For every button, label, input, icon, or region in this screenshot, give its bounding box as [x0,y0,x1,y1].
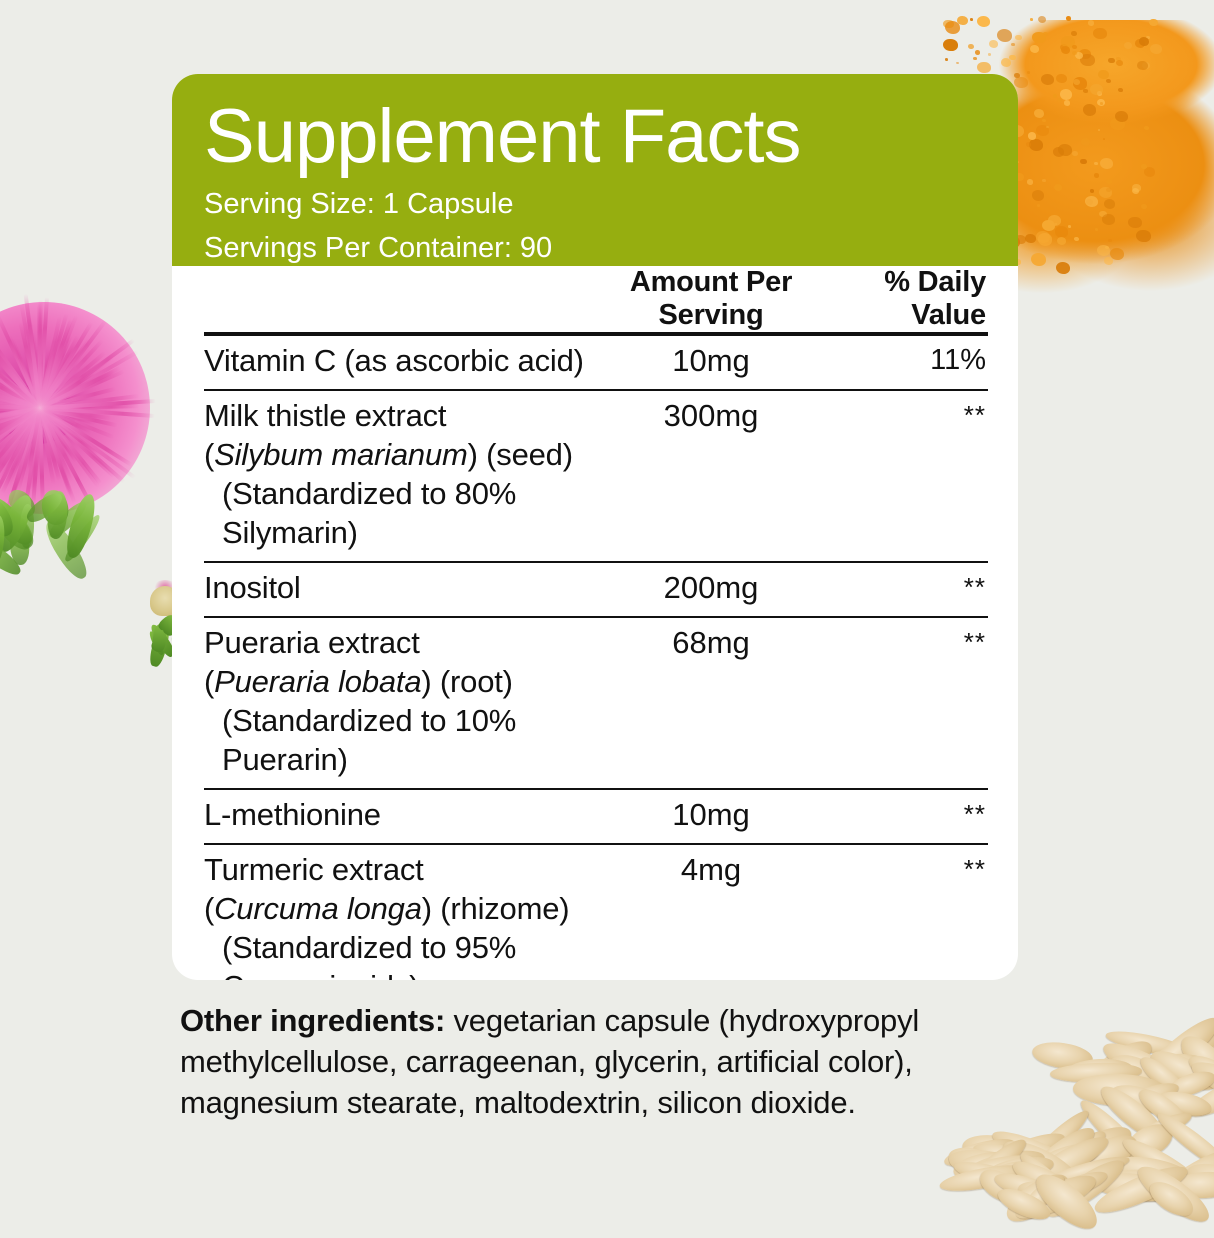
root-slice [1135,1052,1190,1103]
thistle-spike [38,321,93,409]
rows-body: Vitamin C (as ascorbic acid)10mg11%Milk … [204,334,988,980]
ingredient-amount: 68mg [604,617,818,789]
thistle-spike [0,406,41,442]
root-slice [1133,1083,1190,1132]
thistle-spike [0,331,42,409]
thistle-bract [0,514,6,565]
bud-leaf [148,630,166,656]
root-slice [1016,1169,1069,1219]
thistle-spike [40,406,101,411]
thistle-spike [0,349,41,409]
root-slice [1095,1079,1173,1149]
turmeric-grain [1057,98,1062,102]
root-slice [1185,1051,1214,1091]
ingredient-name-cell: Milk thistle extract(Silybum marianum) (… [204,390,604,562]
turmeric-grain [1072,45,1077,49]
thistle-spike [38,346,43,408]
thistle-spike [0,406,40,411]
turmeric-grain [1106,79,1111,83]
ingredient-daily-value: ** [818,844,988,980]
thistle-spike [0,406,41,450]
turmeric-grain [945,21,960,34]
root-slice [1104,1048,1168,1096]
thistle-spike [39,407,116,479]
turmeric-grain [1015,35,1022,41]
root-slice [1020,1120,1102,1192]
root-slice [1091,1169,1185,1205]
thistle-spike [38,334,73,409]
thistle-spike [0,380,41,410]
thistle-spike [27,408,42,470]
thistle-spike [0,347,41,410]
thistle-spike [40,403,109,410]
thistle-spike [22,343,42,408]
thistle-spike [38,344,77,409]
thistle-spike [0,407,41,489]
turmeric-grain [1094,162,1098,165]
turmeric-grain [1141,164,1147,169]
root-slice [1028,1166,1105,1238]
turmeric-grain [988,53,991,55]
turmeric-grain [956,62,959,65]
thistle-spike [0,406,41,438]
root-slice [1122,1118,1178,1166]
thistle-spike [0,406,40,412]
root-slice [1132,1108,1195,1147]
thistle-spike [40,404,139,410]
thistle-spike [0,406,40,410]
turmeric-grain [957,16,968,25]
thistle-bract [0,496,40,556]
turmeric-grain [1146,36,1150,39]
thistle-spike [0,407,42,474]
turmeric-grain [1124,42,1132,49]
turmeric-grain [1079,49,1091,59]
turmeric-grain [1136,230,1151,242]
turmeric-grain [1081,138,1091,146]
thistle-spike [0,406,40,429]
thistle-spike [24,293,42,408]
thistle-spike [0,406,41,443]
thistle-spike [16,407,42,492]
root-slice [1045,1117,1137,1188]
turmeric-grain [989,40,998,47]
root-slice [1165,1067,1214,1101]
turmeric-grain [997,29,1012,42]
thistle-spike [0,407,42,492]
thistle-spike [0,370,41,410]
thistle-spike [8,407,42,502]
table-row: Milk thistle extract(Silybum marianum) (… [204,390,988,562]
turmeric-grain [1064,100,1070,106]
root-slice [1000,1166,1075,1230]
root-slice [994,1183,1054,1226]
root-slice [1036,1139,1102,1177]
thistle-spike [0,407,42,494]
thistle-spike [0,378,40,409]
thistle-bract [45,498,90,542]
root-slice [1016,1149,1081,1209]
turmeric-grain [1100,102,1104,105]
thistle-spike [38,319,73,409]
turmeric-grain [1042,119,1045,122]
thistle-spike [38,407,62,468]
turmeric-grain [1030,45,1039,53]
thistle-spike [38,314,78,408]
turmeric-grain [1115,111,1128,122]
table-row: L-methionine10mg** [204,789,988,844]
thistle-spike [0,334,42,409]
page-title: Supplement Facts [204,88,1018,178]
turmeric-grain [1029,139,1043,150]
turmeric-grain [1072,51,1077,56]
turmeric-grain [1073,79,1080,85]
thistle-spike [38,407,73,496]
turmeric-grain [1027,179,1034,185]
turmeric-grain [1150,44,1162,54]
other-ingredients-label: Other ingredients: [180,1003,445,1038]
root-slice [1148,1053,1205,1074]
turmeric-grain [1036,125,1049,136]
thistle-bract [0,530,25,579]
thistle-spike [40,406,118,427]
thistle-spike [40,399,149,410]
header-blank [204,266,604,332]
thistle-spike [25,320,42,408]
root-slice [1153,1107,1214,1179]
thistle-spike [38,407,94,508]
thistle-spike [39,406,136,479]
thistle-spike [38,320,107,409]
root-slice [1145,1176,1199,1223]
thistle-spike [0,354,41,410]
root-slice [1011,1167,1101,1226]
thistle-spike [39,350,139,410]
turmeric-grain [1061,36,1075,48]
thistle-spike [0,315,42,409]
turmeric-grain [1098,129,1101,131]
ingredient-botanical: (Silybum marianum) (seed) [204,435,604,474]
thistle-spike [38,350,52,409]
turmeric-grain [1149,19,1158,26]
root-slice [951,1156,1034,1194]
thistle-spike [38,336,70,409]
turmeric-grain [1037,204,1040,207]
thistle-spike [0,379,41,410]
turmeric-grain [1026,142,1031,146]
thistle-bract [62,512,103,564]
turmeric-grain [1032,32,1045,43]
thistle-spike [0,407,42,480]
root-slice [985,1127,1069,1175]
thistle-spike [3,407,42,519]
table-header-row: Amount Per Serving % Daily Value [204,266,988,332]
turmeric-grain [1025,234,1036,244]
turmeric-grain [1110,248,1125,260]
thistle-spike [0,376,41,410]
turmeric-grain [1053,94,1058,98]
root-slice [1137,1010,1214,1089]
thistle-bract [46,490,70,540]
turmeric-grain [1137,61,1148,70]
root-slice [986,1153,1056,1184]
thistle-spike [39,370,115,410]
root-slice [1008,1155,1087,1211]
turmeric-grain [968,44,974,49]
thistle-spike [0,403,40,410]
turmeric-grain [1099,187,1112,198]
thistle-spike [26,339,42,408]
thistle-bract [39,488,71,527]
thistle-spike [0,407,42,473]
thistle-spike [39,351,107,410]
thistle-spike [40,399,156,410]
root-slice [1156,1141,1214,1203]
root-slice [1016,1178,1076,1207]
ingredient-name: Milk thistle extract [204,398,446,433]
thistle-spike [39,406,133,467]
turmeric-grain [1071,31,1077,36]
root-slice [1073,1072,1168,1107]
table-row: Turmeric extract(Curcuma longa) (rhizome… [204,844,988,980]
root-slice [1186,1008,1214,1077]
thistle-spike [0,406,41,430]
thistle-bract [40,517,93,583]
root-slice [1074,1128,1141,1180]
turmeric-grain [945,58,948,61]
turmeric-grain [1103,138,1106,140]
root-slice [1066,1057,1135,1084]
thistle-spike [0,407,42,513]
turmeric-grain [1083,89,1087,93]
thistle-spike [39,406,92,433]
ingredient-standardized: (Standardized to 80% Silymarin) [204,474,604,552]
turmeric-grain [1088,20,1094,25]
thistle-spike [31,332,42,409]
turmeric-grain [1074,237,1079,241]
thistle-spike [39,369,125,410]
thistle-spike [0,406,41,463]
turmeric-grain [1139,37,1149,46]
thistle-spike [0,375,41,410]
turmeric-grain [1108,239,1112,242]
turmeric-grain [1046,126,1048,128]
bud-leaf [149,630,171,653]
root-slice [1098,1035,1194,1101]
turmeric-grain [1053,147,1065,157]
thistle-spike [39,364,90,410]
thistle-spike [38,408,45,503]
thistle-spike [38,334,80,409]
ingredient-botanical: (Pueraria lobata) (root) [204,662,604,701]
turmeric-grain [1135,39,1146,48]
turmeric-grain [1108,58,1115,64]
root-slice [1104,1027,1191,1060]
thistle-spike [38,313,68,408]
thistle-spike [39,354,115,409]
thistle-spike [0,368,41,410]
turmeric-grain [1068,225,1071,228]
root-slice [1043,1152,1132,1192]
turmeric-grain [1036,231,1050,243]
thistle-spike [38,407,73,482]
thistle-bract [0,490,37,550]
ingredient-standardized: (Standardized to 95% Curcuminoids) [204,928,604,980]
thistle-bract [4,484,40,521]
root-slice [1131,1158,1214,1230]
thistle-spike [38,407,102,485]
turmeric-grain [1061,46,1070,54]
turmeric-grain [1086,199,1093,205]
thistle-spike [0,407,42,488]
turmeric-grain [1009,55,1016,61]
root-slice [1041,1152,1131,1225]
root-slice [938,1160,1032,1196]
ingredient-daily-value: ** [818,390,988,562]
thistle-spike [0,325,42,409]
thistle-spike [30,408,42,491]
root-slice [945,1142,1004,1181]
turmeric-grain [1057,237,1066,245]
thistle-spike [0,388,41,410]
root-slice [1172,1170,1214,1200]
thistle-spike [0,406,40,434]
root-slice [1023,1129,1114,1193]
supplement-rows-table: Vitamin C (as ascorbic acid)10mg11%Milk … [204,332,988,980]
ingredient-daily-value: 11% [818,334,988,390]
ingredient-name: Vitamin C (as ascorbic acid) [204,343,584,378]
thistle-core [0,384,76,444]
turmeric-grain [1058,144,1072,156]
thistle-spike [39,371,96,410]
turmeric-grain [973,57,977,61]
turmeric-grain [1034,109,1044,117]
root-slice [1063,1126,1109,1165]
thistle-spike [38,407,57,463]
turmeric-grain [1142,62,1150,69]
turmeric-grain [1043,32,1048,36]
ingredient-daily-value: ** [818,562,988,617]
ingredient-name: L-methionine [204,797,381,832]
root-slice [988,1124,1082,1180]
turmeric-grain [1097,91,1102,95]
thistle-bract [8,524,30,566]
turmeric-grain [1093,28,1106,39]
bud-leaf [148,622,172,668]
thistle-spike [39,366,122,410]
root-slice [951,1147,1020,1184]
thistle-spike [38,407,61,480]
ingredient-amount: 300mg [604,390,818,562]
root-slice [1106,1152,1189,1189]
turmeric-grain [977,16,990,27]
thistle-spike [0,384,40,409]
thistle-spike [22,408,42,518]
turmeric-grain [1090,84,1102,94]
ingredient-name-cell: L-methionine [204,789,604,844]
root-slice [960,1134,1030,1195]
thistle-spike [0,406,41,429]
thistle-spike [40,406,97,421]
thistle-spike [0,399,40,410]
thistle-spike [0,385,40,410]
turmeric-grain [1056,74,1067,83]
bud-leaf [152,624,167,653]
root-slice [941,1134,1016,1171]
turmeric-grain [943,20,954,29]
turmeric-grain [1031,253,1046,266]
thistle-spike [39,363,102,409]
thistle-spike [27,318,42,408]
ingredient-standardized: (Standardized to 10% Puerarin) [204,701,604,779]
thistle-spike [0,406,41,455]
thistle-bract [0,492,18,540]
turmeric-grain [1038,233,1053,246]
ingredient-botanical: (Curcuma longa) (rhizome) [204,889,604,928]
turmeric-grain [1080,159,1087,165]
thistle-spike [0,406,40,429]
turmeric-grain [1028,132,1036,139]
root-slice [975,1163,1027,1209]
turmeric-grain [1100,158,1113,169]
turmeric-grain [1083,104,1097,116]
thistle-spike [38,338,91,410]
thistle-spike [0,320,42,410]
turmeric-grain [1097,99,1105,106]
thistle-spike [38,300,43,408]
thistle-spike [0,368,41,409]
facts-body: Amount Per Serving % Daily Value Vitamin… [172,266,1018,980]
thistle-spike [31,408,42,506]
turmeric-grain [1060,44,1068,51]
turmeric-grain [1014,77,1028,89]
thistle-spike [40,387,117,410]
thistle-spike [38,297,49,408]
turmeric-grain [1106,179,1112,184]
root-slice [1186,1054,1214,1116]
thistle-spike [8,407,42,505]
turmeric-grain [1116,60,1123,66]
thistle-bract [23,489,66,527]
facts-table-body: Amount Per Serving % Daily Value [204,266,988,332]
thistle-spike [0,406,41,453]
turmeric-grain [1094,173,1099,177]
turmeric-grain [1027,71,1030,74]
turmeric-grain [1105,246,1108,249]
thistle-spike [0,403,40,410]
turmeric-grain [1144,167,1155,177]
turmeric-grain [1038,16,1046,23]
thistle-spike [0,403,40,410]
thistle-spike [38,407,76,503]
thistle-spike [39,406,96,425]
table-row: Pueraria extract(Pueraria lobata) (root)… [204,617,988,789]
table-row: Vitamin C (as ascorbic acid)10mg11% [204,334,988,390]
thistle-bract [0,491,38,556]
thistle-spike [0,406,41,468]
turmeric-grain [1072,151,1078,156]
root-slice [1146,1044,1214,1098]
other-ingredients: Other ingredients: vegetarian capsule (h… [180,1000,1042,1123]
ingredient-name-cell: Vitamin C (as ascorbic acid) [204,334,604,390]
root-slice [1174,1029,1214,1088]
turmeric-grain [1132,188,1139,194]
root-slice [1075,1094,1158,1176]
turmeric-grain [1106,188,1111,192]
turmeric-grain [1042,179,1046,182]
thistle-spike [0,406,41,476]
ingredient-amount: 10mg [604,334,818,390]
